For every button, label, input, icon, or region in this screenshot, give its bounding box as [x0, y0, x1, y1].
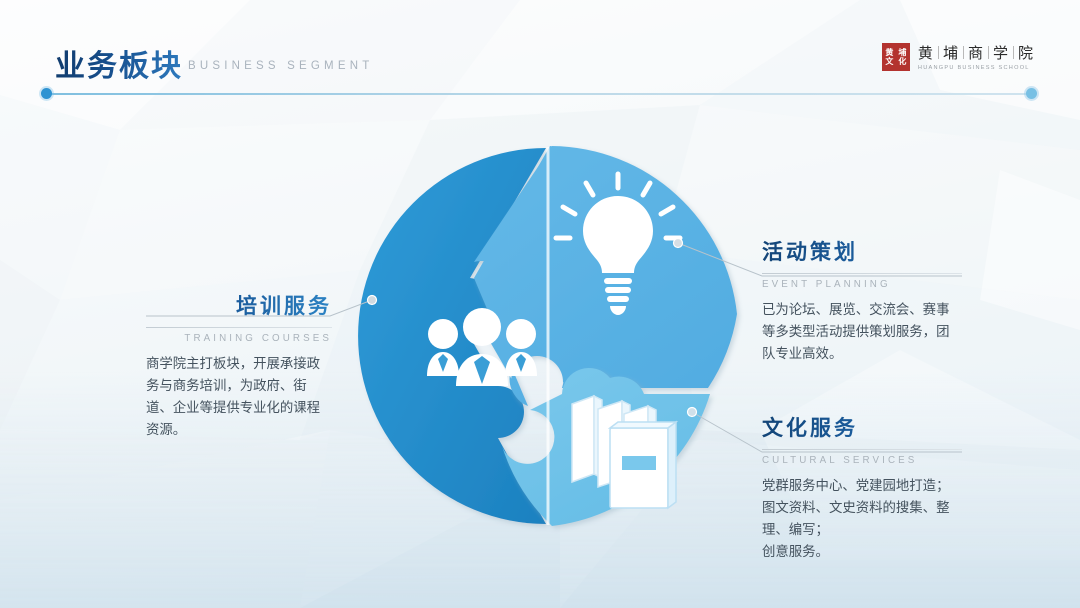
info-block-event: 活动策划 EVENT PLANNING 已为论坛、展览、交流会、赛事等多类型活动… [762, 236, 962, 365]
seal-char-3: 化 [896, 57, 909, 66]
info-block-training: 培训服务 TRAINING COURSES 商学院主打板块，开展承接政务与商务培… [146, 290, 332, 441]
seal-char-2: 文 [883, 57, 896, 66]
page-title: 业务板块 [55, 41, 183, 85]
info-subtitle-training: TRAINING COURSES [146, 333, 332, 344]
brand-name-en: HUANGPU BUSINESS SCHOOL [918, 65, 1034, 71]
info-divider-culture [762, 449, 962, 450]
brand-logo: 黄 埔 文 化 黄 埔 商 学 院 HUANGPU BUSINESS SCHOO… [882, 42, 1034, 71]
info-divider-event [762, 273, 962, 274]
brand-char-2: 商 [968, 42, 984, 63]
info-block-culture: 文化服务 CULTURAL SERVICES 党群服务中心、党建园地打造； 图文… [762, 412, 962, 563]
info-subtitle-event: EVENT PLANNING [762, 279, 962, 290]
info-body-culture: 党群服务中心、党建园地打造； 图文资料、文史资料的搜集、整理、编写； 创意服务。 [762, 475, 962, 563]
brand-char-1: 埔 [943, 42, 959, 63]
brand-char-3: 学 [993, 42, 1009, 63]
info-body-event: 已为论坛、展览、交流会、赛事等多类型活动提供策划服务，团队专业高效。 [762, 299, 962, 365]
people-group-icon [427, 308, 537, 386]
info-subtitle-culture: CULTURAL SERVICES [762, 455, 962, 466]
seal-stamp-icon: 黄 埔 文 化 [882, 43, 910, 71]
info-body-training: 商学院主打板块，开展承接政务与商务培训，为政府、街道、企业等提供专业化的课程资源… [146, 353, 332, 441]
info-title-culture: 文化服务 [762, 412, 962, 442]
brand-char-4: 院 [1018, 42, 1034, 63]
brand-char-0: 黄 [918, 42, 934, 63]
page-subtitle: BUSINESS SEGMENT [188, 60, 373, 72]
header-divider [46, 93, 1032, 95]
info-title-training: 培训服务 [146, 290, 332, 320]
page-header: 业务板块 BUSINESS SEGMENT 黄 埔 文 化 黄 埔 商 学 院 … [0, 0, 1080, 110]
info-divider-training [146, 327, 332, 328]
header-divider-dot-right [1026, 88, 1037, 99]
brand-name-cn: 黄 埔 商 学 院 [918, 42, 1034, 63]
puzzle-circle-diagram [348, 138, 744, 534]
info-title-event: 活动策划 [762, 236, 962, 266]
header-divider-dot-left [41, 88, 52, 99]
